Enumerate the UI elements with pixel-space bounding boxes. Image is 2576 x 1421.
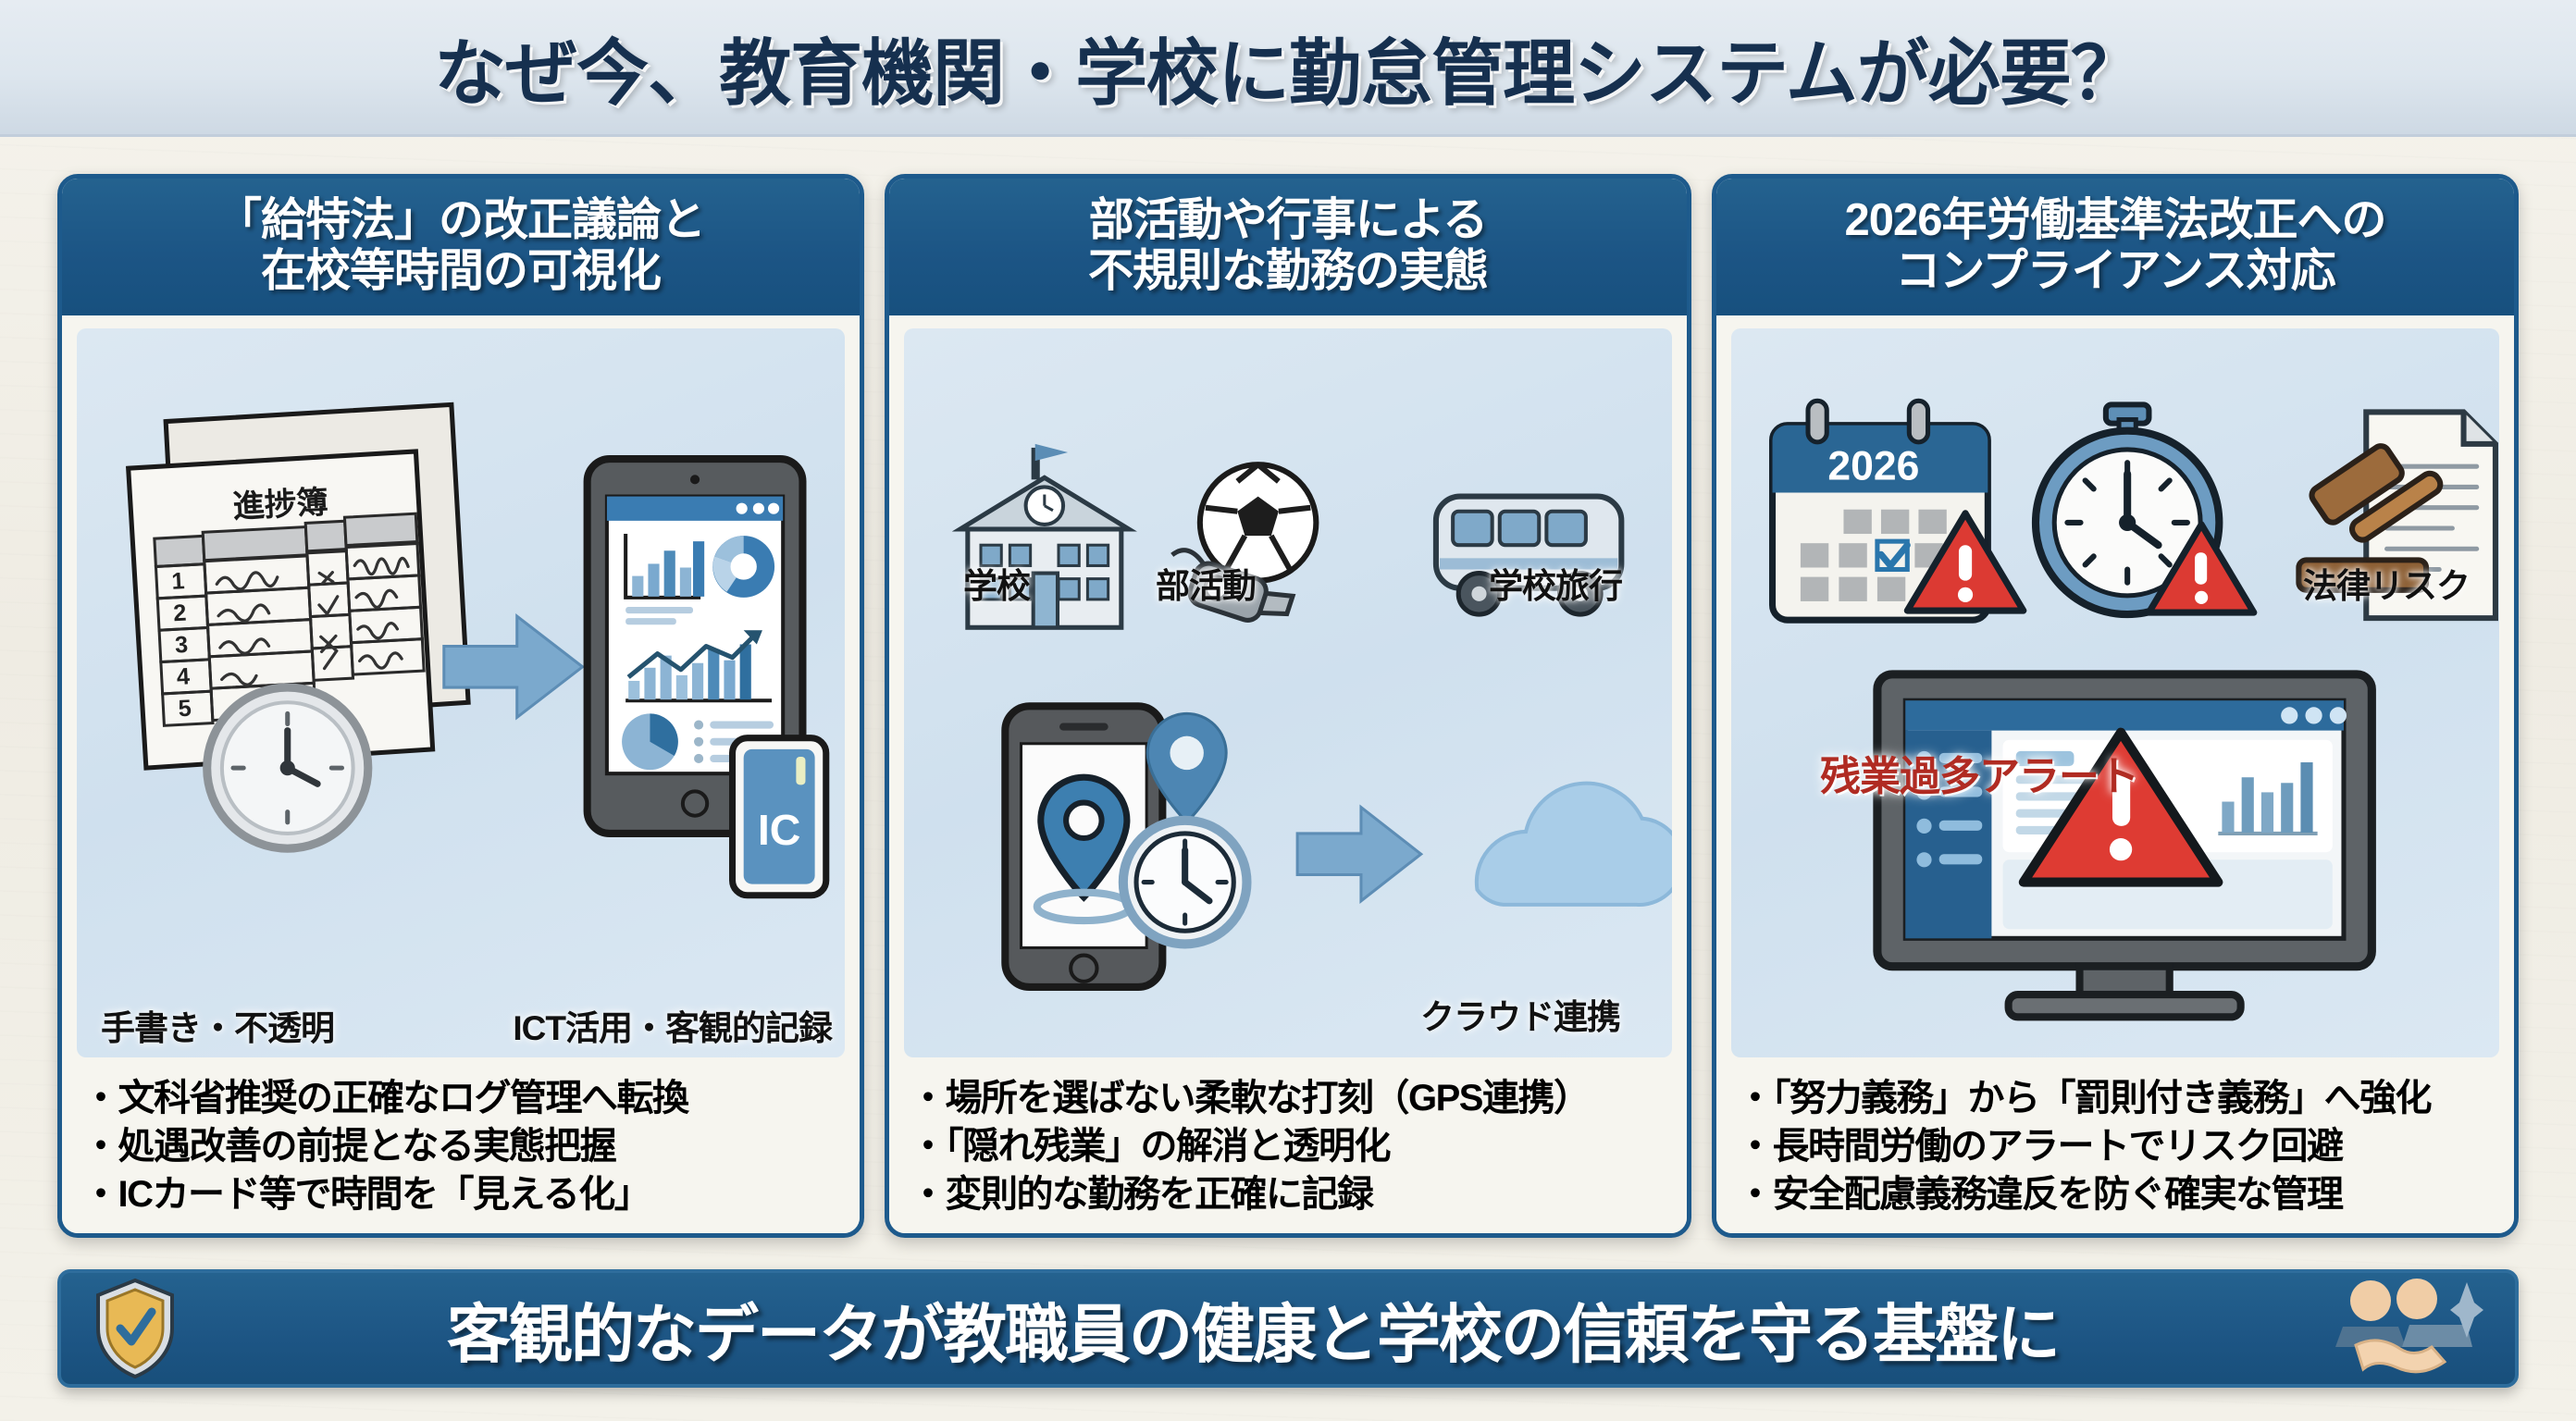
panel-bullets-compliance: ・「努力義務」から「罰則付き義務」へ強化 ・長時間労働のアラートでリスク回避 ・… [1716, 1065, 2514, 1233]
cloud-icon [1477, 783, 1672, 904]
bullet-item: ・長時間労働のアラートでリスク回避 [1737, 1122, 2497, 1170]
panel-illustration-bukatsudo: 学校 部活動 学校旅行 クラウド連携 [904, 328, 1672, 1057]
handwriting-to-ict-illustration: 進捗簿 [77, 328, 845, 1057]
analog-clock-icon [207, 687, 368, 848]
label-school: 学校 [963, 558, 1030, 608]
panel-title-line2: 在校等時間の可視化 [71, 246, 850, 297]
svg-text:5: 5 [178, 695, 192, 722]
bullet-item: ・「努力義務」から「罰則付き義務」へ強化 [1737, 1074, 2497, 1122]
label-school-trip: 学校旅行 [1489, 558, 1622, 608]
label-ict-record: ICT活用・客観的記録 [513, 1000, 832, 1050]
svg-text:2: 2 [173, 599, 188, 626]
panel-illustration-kyutokuho: 進捗簿 [77, 328, 845, 1057]
panel-header-kyutokuho: 「給特法」の改正議論と 在校等時間の可視化 [62, 179, 860, 315]
panel-bukatsudo[interactable]: 部活動や行事による 不規則な勤務の実態 [885, 174, 1691, 1238]
label-overtime-alert: 残業過多アラート [1820, 743, 2138, 802]
panel-title-line2: コンプライアンス対応 [1726, 246, 2505, 297]
clock-overlay-icon [1123, 821, 1247, 945]
panel-title-line1: 「給特法」の改正議論と [71, 195, 850, 246]
bullet-item: ・「隠れ残業」の解消と透明化 [910, 1122, 1670, 1170]
shield-check-icon [93, 1277, 178, 1380]
page-title: なぜ今、教育機関・学校に勤怠管理システムが必要？ [434, 16, 2142, 119]
ic-card-icon: IC [733, 737, 826, 895]
bullet-item: ・ICカード等で時間を「見える化」 [82, 1170, 843, 1218]
svg-text:4: 4 [176, 663, 191, 690]
label-legal-risk: 法律リスク [2303, 558, 2470, 608]
monitor-alert-icon [1877, 674, 2372, 1017]
svg-text:IC: IC [758, 806, 801, 854]
paper-title: 進捗簿 [232, 485, 329, 525]
svg-text:1: 1 [171, 568, 186, 595]
irregular-work-illustration [904, 328, 1672, 1057]
compliance-risk-illustration: 2026 [1731, 328, 2499, 1057]
label-club-activity: 部活動 [1156, 558, 1256, 608]
bullet-item: ・安全配慮義務違反を防ぐ確実な管理 [1737, 1170, 2497, 1218]
panel-compliance[interactable]: 2026年労働基準法改正への コンプライアンス対応 2026 [1712, 174, 2519, 1238]
panel-header-bukatsudo: 部活動や行事による 不規則な勤務の実態 [889, 179, 1687, 315]
handshake-icon [2328, 1277, 2483, 1380]
panel-kyutokuho[interactable]: 「給特法」の改正議論と 在校等時間の可視化 進捗簿 [57, 174, 864, 1238]
panel-row: 「給特法」の改正議論と 在校等時間の可視化 進捗簿 [57, 174, 2519, 1238]
label-cloud-link: クラウド連携 [1420, 989, 1620, 1039]
bullet-item: ・変則的な勤務を正確に記録 [910, 1170, 1670, 1218]
svg-text:3: 3 [174, 632, 189, 659]
calendar-year-text: 2026 [1827, 443, 1919, 488]
panel-title-line2: 不規則な勤務の実態 [898, 246, 1678, 297]
bullet-item: ・処遇改善の前提となる実態把握 [82, 1122, 843, 1170]
panel-illustration-compliance: 2026 [1731, 328, 2499, 1057]
sync-arrow-icon [1297, 807, 1421, 900]
bullet-item: ・文科省推奨の正確なログ管理へ転換 [82, 1074, 843, 1122]
panel-title-line1: 部活動や行事による [898, 195, 1678, 246]
panel-bullets-bukatsudo: ・場所を選ばない柔軟な打刻（GPS連携） ・「隠れ残業」の解消と透明化 ・変則的… [889, 1065, 1687, 1233]
page-header: なぜ今、教育機関・学校に勤怠管理システムが必要？ [0, 0, 2576, 137]
bullet-item: ・場所を選ばない柔軟な打刻（GPS連携） [910, 1074, 1670, 1122]
footer-message: 客観的なデータが教職員の健康と学校の信頼を守る基盤に [202, 1282, 2304, 1375]
label-handwritten: 手書き・不透明 [101, 1000, 334, 1050]
panel-bullets-kyutokuho: ・文科省推奨の正確なログ管理へ転換 ・処遇改善の前提となる実態把握 ・ICカード… [62, 1065, 860, 1233]
footer-banner: 客観的なデータが教職員の健康と学校の信頼を守る基盤に [57, 1269, 2519, 1388]
panel-title-line1: 2026年労働基準法改正への [1726, 195, 2505, 246]
panel-header-compliance: 2026年労働基準法改正への コンプライアンス対応 [1716, 179, 2514, 315]
